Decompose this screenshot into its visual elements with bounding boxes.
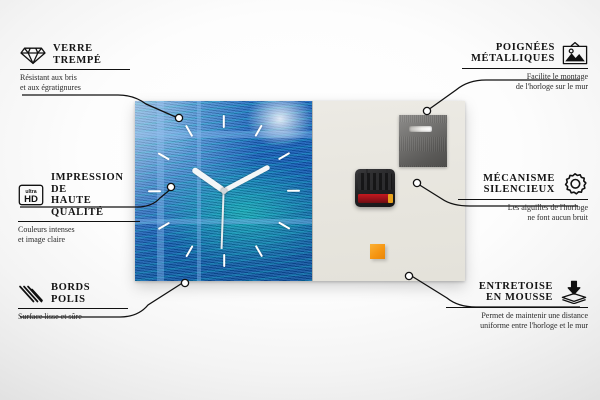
gear-icon [562, 172, 588, 196]
ultra-hd-icon-large-label: HD [24, 194, 38, 205]
feature-divider [462, 68, 588, 69]
product-image [135, 101, 465, 281]
diamond-icon [20, 45, 46, 65]
feature-subtitle: Couleurs intenses et image claire [18, 225, 140, 244]
feature-divider [18, 308, 128, 309]
feature-title: IMPRESSION DE HAUTE QUALITÉ [51, 172, 140, 218]
hanger-slot [409, 126, 432, 132]
mechanism-vents [358, 173, 392, 190]
feature-impression-haute-qualite[interactable]: ultra HD IMPRESSION DE HAUTE QUALITÉ Cou… [18, 172, 140, 244]
feature-divider [18, 221, 140, 222]
battery-terminal [388, 194, 393, 203]
feature-title: BORDS POLIS [51, 282, 90, 305]
feature-subtitle: Surface lisse et sûre [18, 312, 128, 322]
foam-spacer-icon [560, 280, 588, 304]
metal-hanger-plate [399, 115, 447, 167]
feature-poignees-metalliques[interactable]: POIGNÉES MÉTALLIQUES Facilite le montage… [462, 41, 588, 91]
feature-title: ENTRETOISE EN MOUSSE [479, 281, 553, 304]
clock-front-face [135, 101, 312, 281]
feature-title: MÉCANISME SILENCIEUX [483, 173, 555, 196]
feature-subtitle: Facilite le montage de l'horloge sur le … [462, 72, 588, 91]
foam-spacer [370, 244, 385, 259]
feature-subtitle: Permet de maintenir une distance uniform… [446, 311, 588, 330]
feature-bords-polis[interactable]: BORDS POLIS Surface lisse et sûre [18, 282, 128, 322]
feature-mecanisme-silencieux[interactable]: MÉCANISME SILENCIEUX Les aiguilles de l'… [458, 172, 588, 222]
feature-title: POIGNÉES MÉTALLIQUES [471, 42, 555, 65]
feature-verre-trempe[interactable]: VERRE TREMPÉ Résistant aux bris et aux é… [20, 43, 130, 92]
feature-entretoise-en-mousse[interactable]: ENTRETOISE EN MOUSSE Permet de maintenir… [446, 280, 588, 330]
infographic-canvas: VERRE TREMPÉ Résistant aux bris et aux é… [0, 0, 600, 400]
clock-back-panel [312, 101, 465, 281]
feature-title: VERRE TREMPÉ [53, 43, 102, 66]
feature-divider [20, 69, 130, 70]
hands-center-cap [221, 188, 227, 194]
feature-divider [458, 199, 588, 200]
feature-subtitle: Les aiguilles de l'horloge ne font aucun… [458, 203, 588, 222]
picture-hanger-icon [562, 41, 588, 65]
feature-divider [446, 307, 588, 308]
ultra-hd-icon: ultra HD [18, 184, 44, 206]
polished-edge-icon [18, 284, 44, 304]
feature-subtitle: Résistant aux bris et aux égratignures [20, 73, 130, 92]
clock-mechanism [355, 169, 395, 207]
battery [358, 194, 390, 203]
